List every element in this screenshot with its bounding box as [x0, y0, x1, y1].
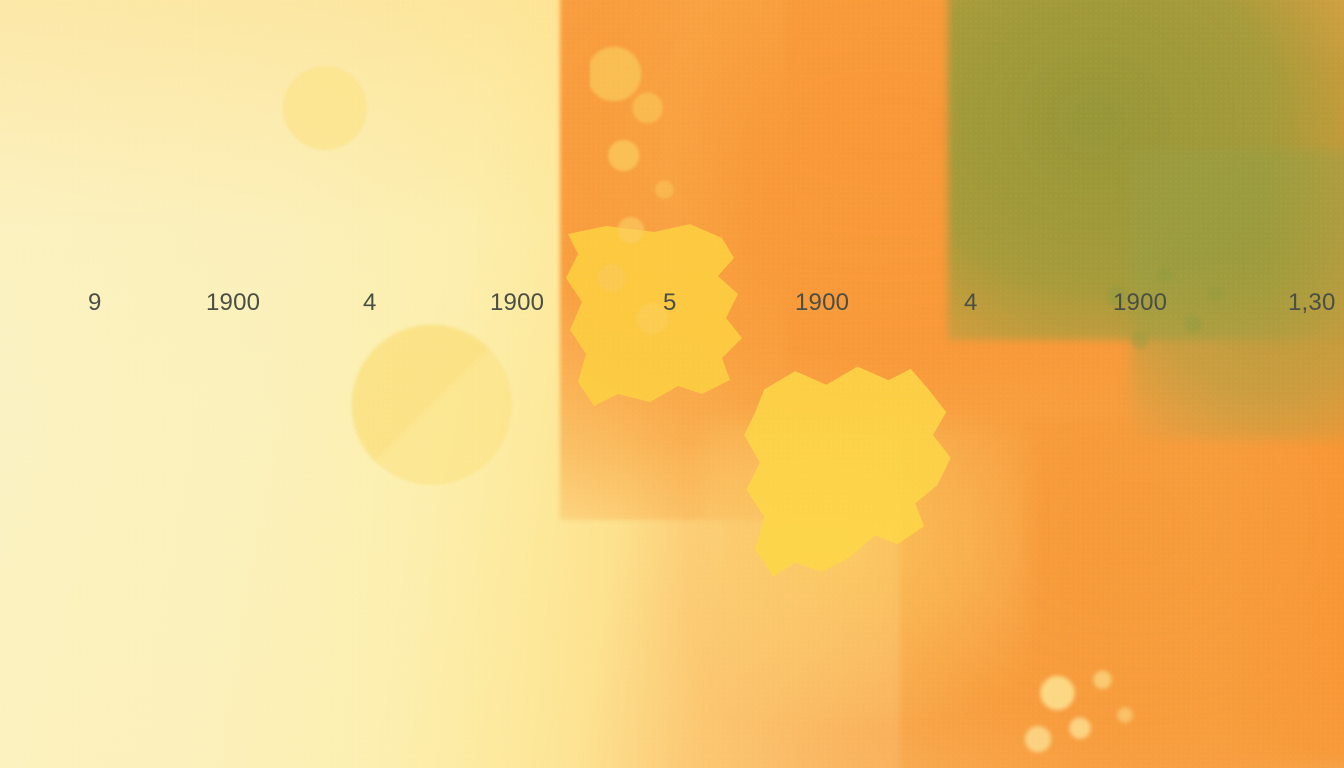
brush-splatter-left: [590, 40, 710, 380]
axis-label: 1900: [206, 286, 260, 320]
brush-splatter-bottom-right: [1020, 660, 1170, 768]
watercolor-canvas: 9 1900 4 1900 5 1900 4 1900 1,30: [0, 0, 1344, 768]
axis-label: 4: [363, 286, 377, 320]
axis-label: 1,30: [1288, 286, 1336, 320]
decorative-circle-large-shading: [352, 325, 512, 485]
axis-label: 4: [964, 286, 978, 320]
axis-label: 9: [88, 286, 102, 320]
axis-label-row: 9 1900 4 1900 5 1900 4 1900 1,30: [0, 286, 1344, 326]
axis-label: 5: [663, 286, 677, 320]
decorative-circle-large: [352, 325, 512, 485]
axis-label: 1900: [490, 286, 544, 320]
decorative-circle-small: [283, 66, 367, 150]
axis-label: 1900: [795, 286, 849, 320]
axis-label: 1900: [1113, 286, 1167, 320]
